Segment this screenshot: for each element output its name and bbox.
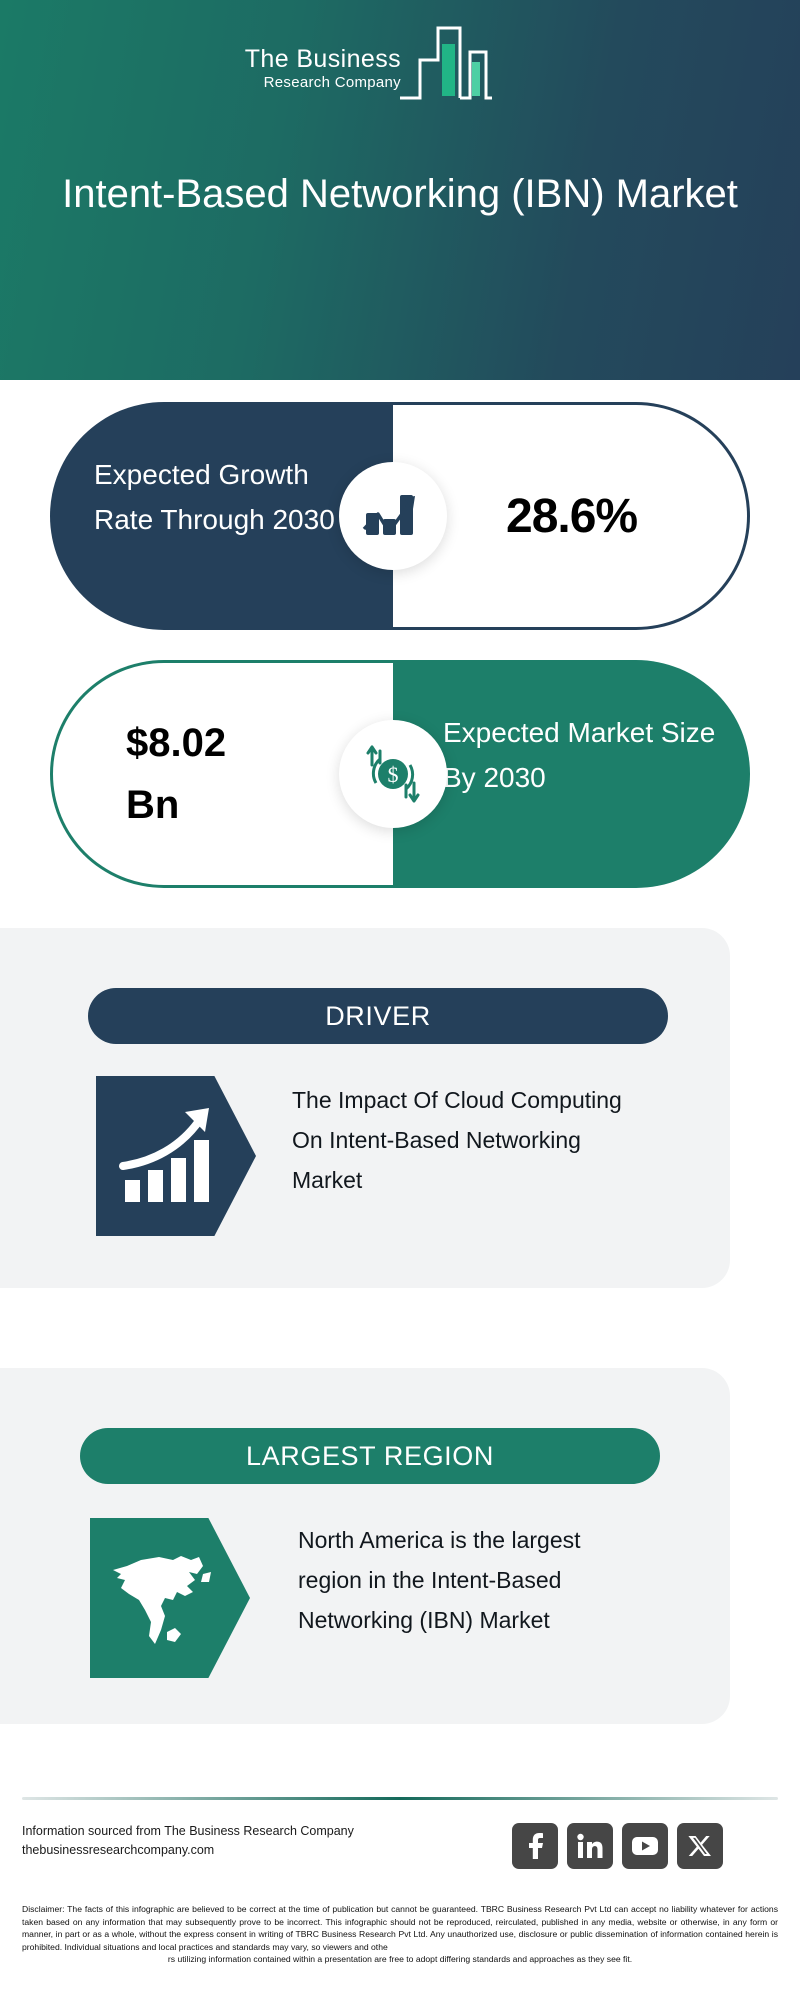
- driver-pill: DRIVER: [88, 988, 668, 1044]
- stat-value-growth: 28.6%: [450, 402, 750, 630]
- page-title: Intent-Based Networking (IBN) Market: [0, 168, 800, 220]
- source-credit: Information sourced from The Business Re…: [22, 1822, 354, 1860]
- logo-wordmark: The Business Research Company: [216, 46, 401, 92]
- x-twitter-icon[interactable]: [677, 1823, 723, 1869]
- footer-divider: [22, 1797, 778, 1800]
- growth-bar-chart-arrow-icon: [339, 462, 447, 570]
- facebook-icon[interactable]: [512, 1823, 558, 1869]
- stat-card-market-size: $8.02 Bn Expected Market Size By 2030 $: [50, 660, 750, 888]
- stat-card-growth-rate: Expected Growth Rate Through 2030 28.6%: [50, 402, 750, 630]
- driver-text: The Impact Of Cloud Computing On Intent-…: [292, 1080, 622, 1200]
- logo-line-1: The Business: [216, 46, 401, 73]
- stat-label-growth: Expected Growth Rate Through 2030: [94, 452, 364, 542]
- header-banner: The Business Research Company Intent-Bas…: [0, 0, 800, 380]
- rising-bar-chart-arrow-icon: [96, 1076, 256, 1236]
- disclaimer-last-line: rs utilizing information contained withi…: [22, 1953, 778, 1966]
- source-line-2[interactable]: thebusinessresearchcompany.com: [22, 1841, 354, 1860]
- source-line-1: Information sourced from The Business Re…: [22, 1822, 354, 1841]
- largest-region-pill-label: LARGEST REGION: [246, 1441, 494, 1472]
- largest-region-text: North America is the largest region in t…: [298, 1520, 628, 1640]
- driver-panel: DRIVER The Impact Of Cloud Computing On …: [0, 928, 730, 1288]
- driver-pill-label: DRIVER: [325, 1001, 431, 1032]
- largest-region-panel: LARGEST REGION North America is the larg…: [0, 1368, 730, 1724]
- bar-chart-logo-mark: [398, 22, 494, 100]
- logo-line-2: Research Company: [216, 73, 401, 92]
- north-america-map-icon: [90, 1518, 250, 1678]
- market-size-unit: Bn: [126, 774, 179, 836]
- youtube-icon[interactable]: [622, 1823, 668, 1869]
- svg-text:$: $: [388, 762, 399, 787]
- largest-region-pill: LARGEST REGION: [80, 1428, 660, 1484]
- disclaimer-body: Disclaimer: The facts of this infographi…: [22, 1904, 778, 1952]
- market-size-amount: $8.02: [126, 712, 226, 774]
- linkedin-icon[interactable]: [567, 1823, 613, 1869]
- stat-value-market-size: $8.02 Bn: [50, 660, 350, 888]
- social-links: [512, 1823, 723, 1869]
- disclaimer-text: Disclaimer: The facts of this infographi…: [22, 1903, 778, 1966]
- company-logo: The Business Research Company: [216, 22, 496, 100]
- dollar-circular-arrows-icon: $: [339, 720, 447, 828]
- stat-label-market-size: Expected Market Size By 2030: [443, 710, 733, 800]
